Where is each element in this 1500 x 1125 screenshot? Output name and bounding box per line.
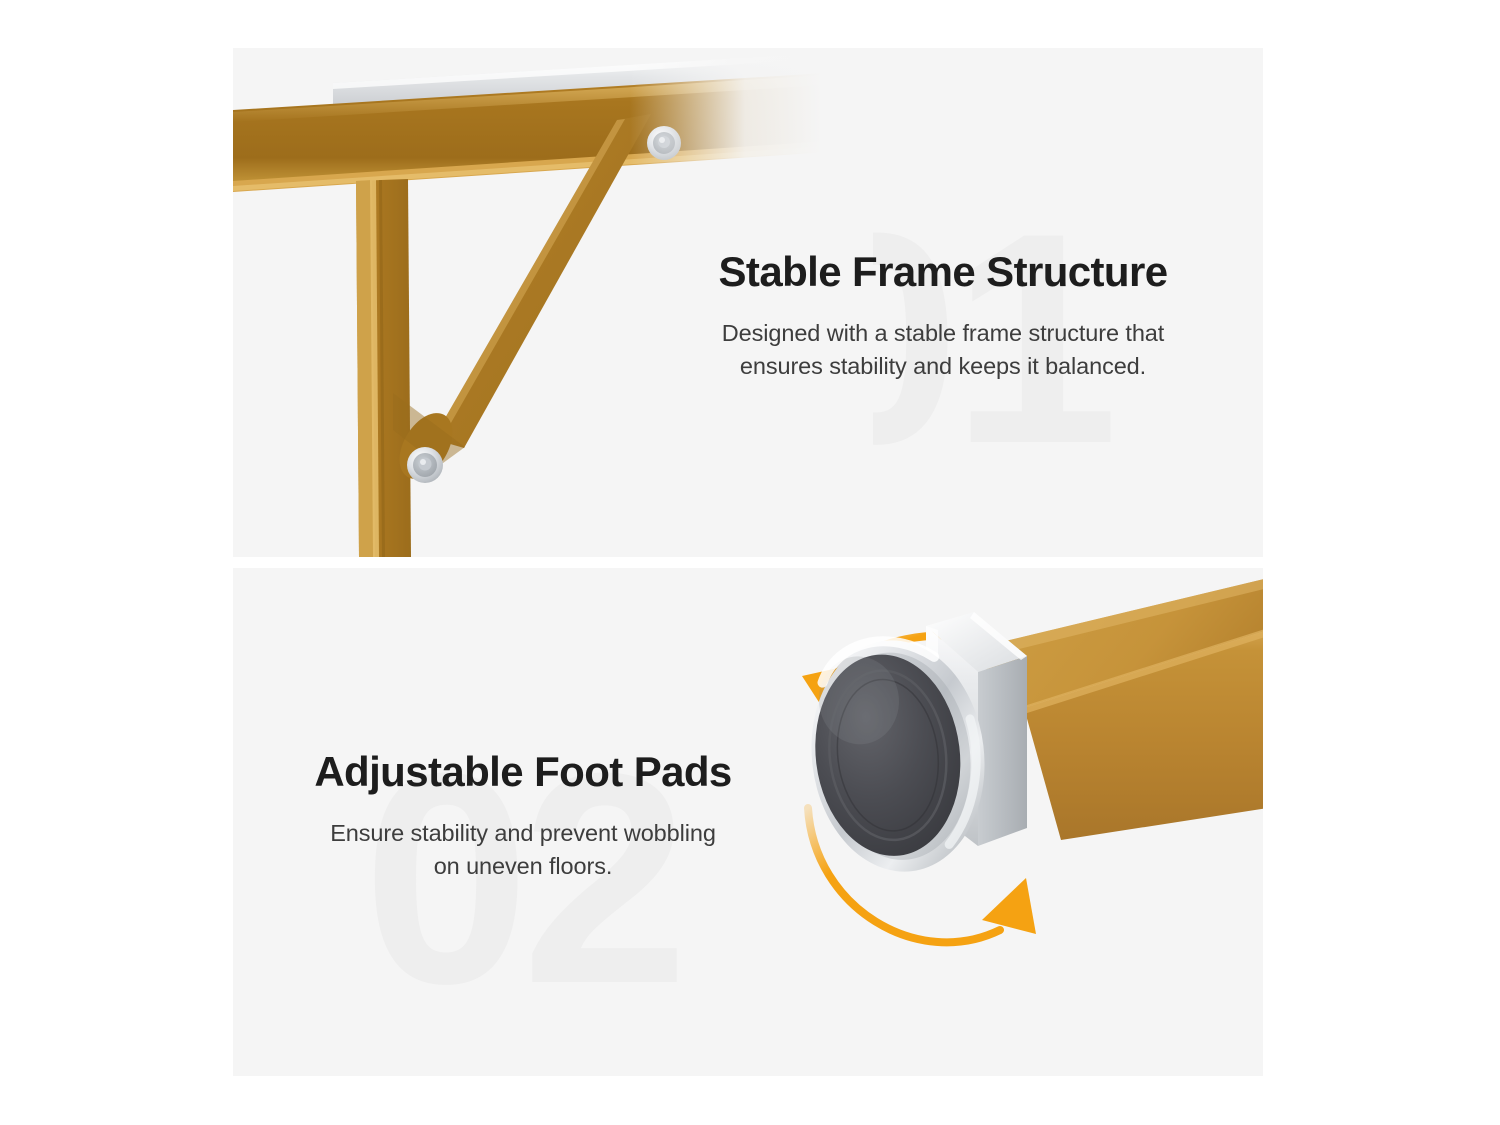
- feature-title-01: Stable Frame Structure: [663, 248, 1223, 295]
- feature-panel-01: 01: [233, 48, 1263, 557]
- feature-description-02-line2: on uneven floors.: [434, 853, 613, 879]
- feature-description-02-line1: Ensure stability and prevent wobbling: [330, 820, 716, 846]
- feature-panel-02: 02 Adjustable Foot Pads Ensure stability…: [233, 568, 1263, 1076]
- feature-title-02: Adjustable Foot Pads: [263, 748, 783, 795]
- feature-description-01-line1: Designed with a stable frame structure t…: [722, 320, 1164, 346]
- feature-description-01-line2: ensures stability and keeps it balanced.: [740, 353, 1146, 379]
- infographic-stage: 01: [0, 0, 1500, 1125]
- feature-text-02: Adjustable Foot Pads Ensure stability an…: [263, 748, 783, 884]
- feature-description-02: Ensure stability and prevent wobbling on…: [263, 817, 783, 884]
- feature-description-01: Designed with a stable frame structure t…: [663, 317, 1223, 384]
- feature-text-01: Stable Frame Structure Designed with a s…: [663, 248, 1223, 384]
- adjustable-foot-pad-image: [778, 578, 1263, 1008]
